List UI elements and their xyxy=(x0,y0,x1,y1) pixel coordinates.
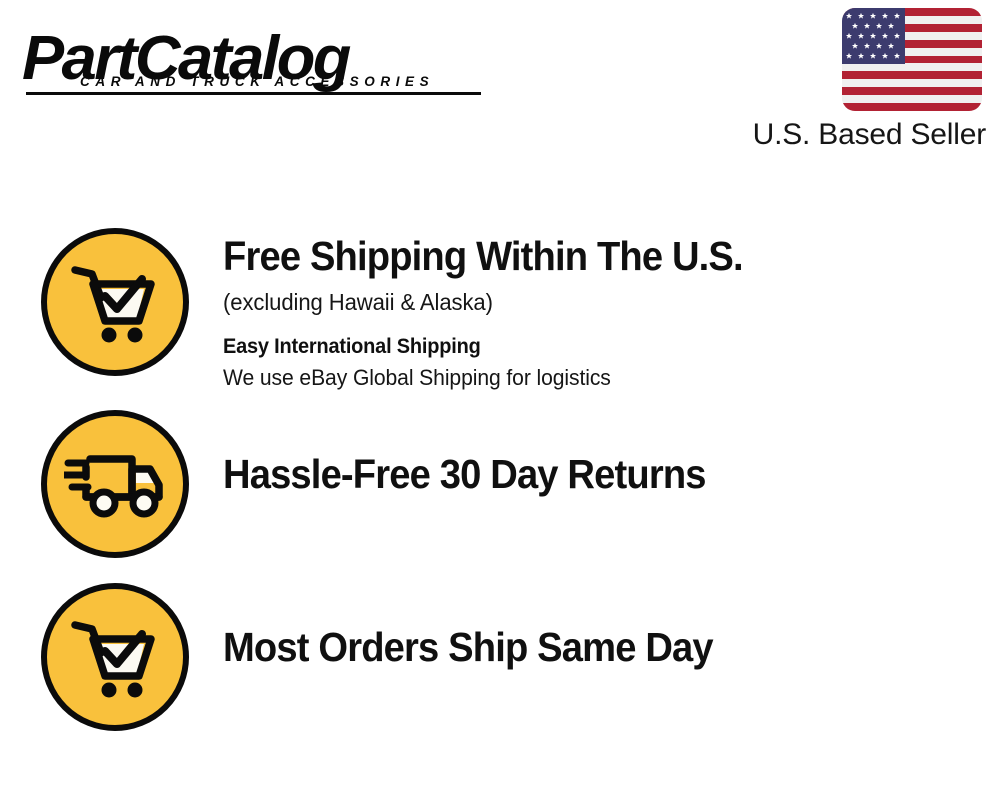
us-based-seller-label: U.S. Based Seller xyxy=(724,118,986,152)
feature-headline: Most Orders Ship Same Day xyxy=(223,623,946,671)
us-based-seller-badge: U.S. Based Seller xyxy=(724,8,986,152)
brand-wordmark: PartCatalog xyxy=(22,28,501,90)
feature-row-free-shipping: Free Shipping Within The U.S. (excluding… xyxy=(0,228,1000,406)
feature-subline: (excluding Hawaii & Alaska) xyxy=(223,286,969,318)
feature-row-same-day: Most Orders Ship Same Day xyxy=(0,583,1000,748)
promo-banner: PartCatalog CAR AND TRUCK ACCESSORIES xyxy=(0,0,1000,800)
feature-headline: Free Shipping Within The U.S. xyxy=(223,232,946,280)
brand-logo: PartCatalog CAR AND TRUCK ACCESSORIES xyxy=(22,28,492,89)
feature-text-same-day: Most Orders Ship Same Day xyxy=(189,583,1000,671)
shopping-cart-check-icon xyxy=(41,228,189,376)
delivery-truck-icon xyxy=(41,410,189,558)
us-flag-icon xyxy=(842,8,982,111)
shopping-cart-check-icon xyxy=(41,583,189,731)
feature-text-returns: Hassle-Free 30 Day Returns xyxy=(189,410,1000,498)
feature-sub-detail: We use eBay Global Shipping for logistic… xyxy=(223,363,969,393)
feature-text-free-shipping: Free Shipping Within The U.S. (excluding… xyxy=(189,228,1000,393)
flag-stars xyxy=(842,8,905,64)
feature-sub-heading: Easy International Shipping xyxy=(223,332,961,362)
feature-headline: Hassle-Free 30 Day Returns xyxy=(223,450,946,498)
feature-row-returns: Hassle-Free 30 Day Returns xyxy=(0,410,1000,575)
banner-header: PartCatalog CAR AND TRUCK ACCESSORIES xyxy=(0,0,1000,175)
